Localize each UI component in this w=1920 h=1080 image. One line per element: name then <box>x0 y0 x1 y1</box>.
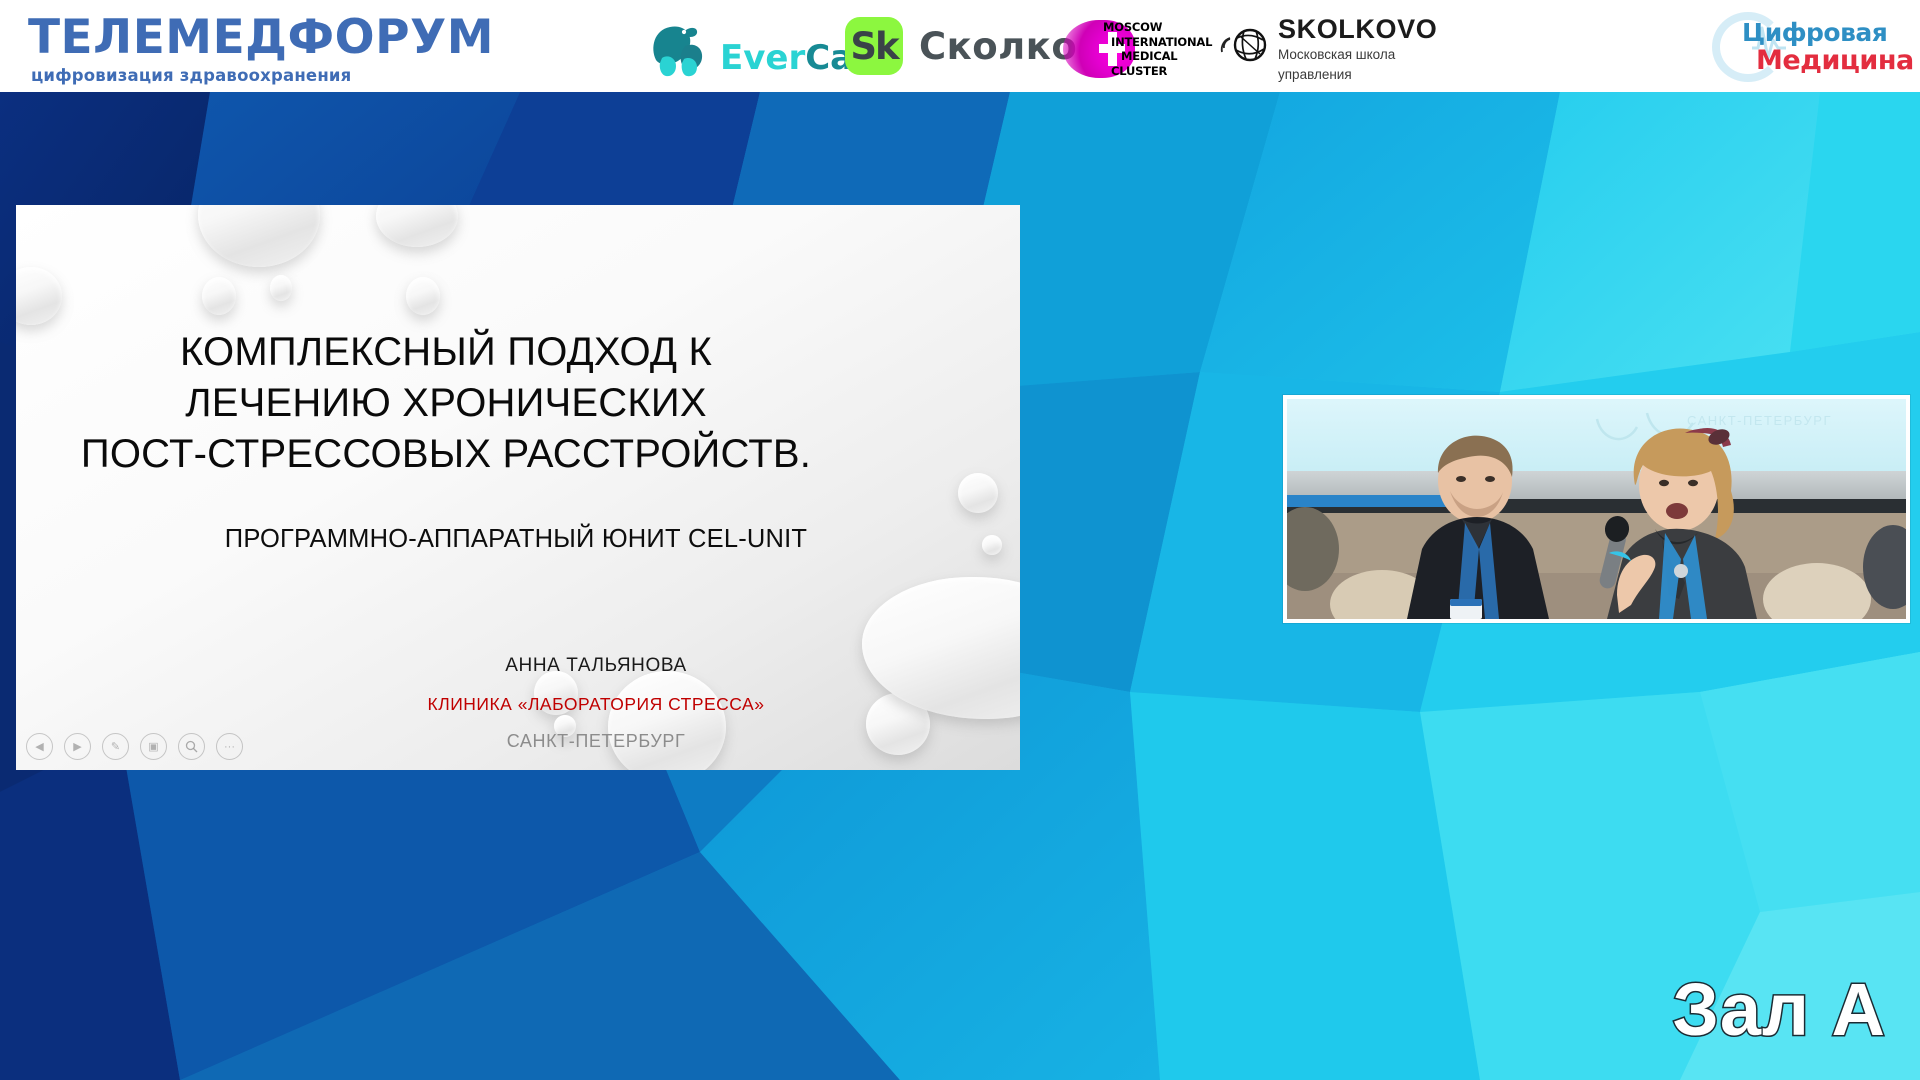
all-slides-icon[interactable]: ▣ <box>140 733 167 760</box>
telemedforum-logo: ТЕЛЕМЕДФОРУМ цифровизация здравоохранени… <box>28 14 494 85</box>
telemedforum-tagline: цифровизация здравоохранения <box>31 66 494 85</box>
skolkovo-school-title: SKOLKOVO <box>1278 16 1437 43</box>
digital-medicine-logo: Цифровая Медицина <box>1712 10 1912 84</box>
slide-title-line-2: ЛЕЧЕНИЮ ХРОНИЧЕСКИХ <box>16 378 876 429</box>
video-frame-content: САНКТ-ПЕТЕРБУРГ <box>1287 399 1906 619</box>
video-backdrop-text: САНКТ-ПЕТЕРБУРГ <box>1687 413 1832 428</box>
skolkovo-school-sub-1: Московская школа <box>1278 47 1437 63</box>
slide-title: КОМПЛЕКСНЫЙ ПОДХОД К ЛЕЧЕНИЮ ХРОНИЧЕСКИХ… <box>16 327 876 481</box>
hall-label: Зал А <box>1672 967 1886 1052</box>
sk-badge-icon: Sk <box>845 17 903 75</box>
slide-city: САНКТ-ПЕТЕРБУРГ <box>316 731 876 752</box>
presentation-slide[interactable]: КОМПЛЕКСНЫЙ ПОДХОД К ЛЕЧЕНИЮ ХРОНИЧЕСКИХ… <box>16 205 1020 770</box>
digital-medicine-word-2: Медицина <box>1756 45 1914 76</box>
live-video-feed[interactable]: САНКТ-ПЕТЕРБУРГ <box>1283 395 1910 623</box>
zoom-tool-icon[interactable] <box>178 733 205 760</box>
slide-subtitle: ПРОГРАММНО-АППАРАТНЫЙ ЮНИТ CEL-UNIT <box>136 525 896 554</box>
slide-author-name: АННА ТАЛЬЯНОВА <box>316 655 876 677</box>
previous-slide-icon[interactable]: ◀ <box>26 733 53 760</box>
event-header-bar: ТЕЛЕМЕДФОРУМ цифровизация здравоохранени… <box>0 0 1920 92</box>
evercare-word-first: Ever <box>720 38 805 78</box>
slide-clinic-name: КЛИНИКА «ЛАБОРАТОРИЯ СТРЕССА» <box>316 694 876 715</box>
telemedforum-title: ТЕЛЕМЕДФОРУМ <box>28 14 494 61</box>
skolkovo-school-logo: SKOLKOVO Московская школа управления <box>1218 14 1437 84</box>
slide-title-line-3: ПОСТ-СТРЕССОВЫХ РАССТРОЙСТВ. <box>16 429 876 480</box>
skolkovo-school-sub-2: управления <box>1278 67 1437 83</box>
globe-icon <box>1218 18 1272 72</box>
next-slide-icon[interactable]: ▶ <box>64 733 91 760</box>
pen-tool-icon[interactable]: ✎ <box>102 733 129 760</box>
more-options-icon[interactable]: ··· <box>216 733 243 760</box>
slide-title-line-1: КОМПЛЕКСНЫЙ ПОДХОД К <box>16 327 876 378</box>
mimc-logo: MOSCOW INTERNATIONAL MEDICAL CLUSTER <box>1063 8 1243 84</box>
presenter-controls[interactable]: ◀ ▶ ✎ ▣ ··· <box>26 733 243 760</box>
broadcast-screen: ТЕЛЕМЕДФОРУМ цифровизация здравоохранени… <box>0 0 1920 1080</box>
digital-medicine-word-1: Цифровая <box>1742 18 1887 47</box>
evercare-bird-icon <box>640 18 718 78</box>
